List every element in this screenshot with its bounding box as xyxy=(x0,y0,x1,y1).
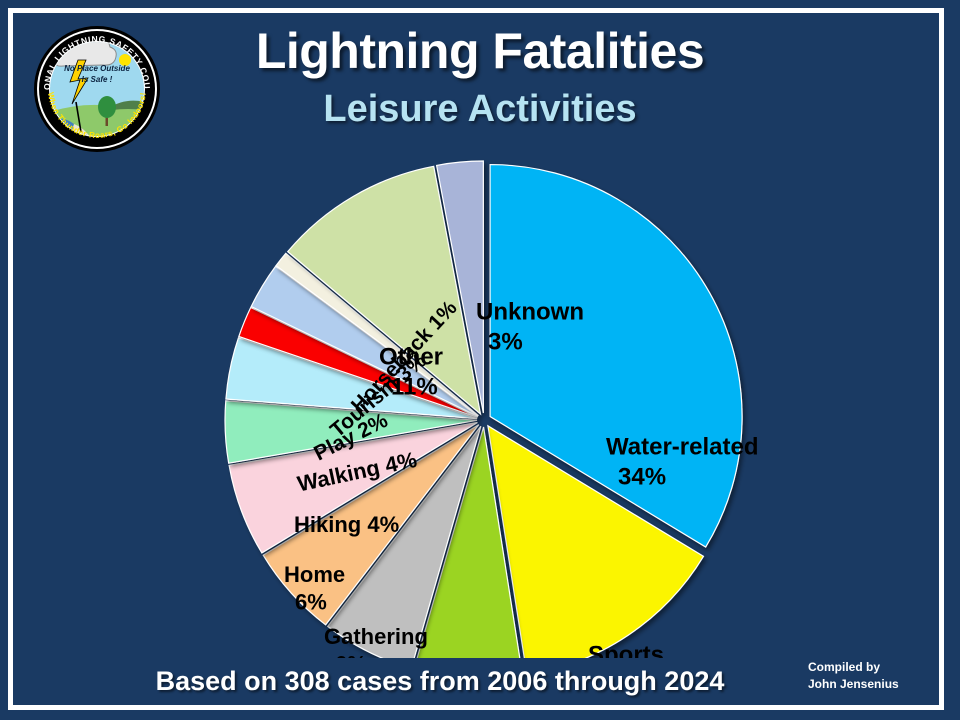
credit-line-2: John Jensenius xyxy=(808,676,938,693)
pie-label-unknown-percent: 3% xyxy=(488,328,523,355)
pie-label-water-related-name: Water-related xyxy=(606,433,758,460)
pie-label-gathering-percent: 6% xyxy=(335,651,367,658)
page-subtitle: Leisure Activities xyxy=(0,88,960,131)
credit-line-1: Compiled by xyxy=(808,659,938,676)
pie-label-home-percent: 6% xyxy=(295,589,327,614)
pie-chart: Water-related34%Sports14%Camping7%Riding… xyxy=(206,138,762,658)
pie-label-other-percent: 11% xyxy=(391,373,438,400)
pie-label-hiking: Hiking 4% xyxy=(294,512,399,537)
page-title: Lightning Fatalities xyxy=(0,22,960,80)
pie-label-unknown-name: Unknown xyxy=(476,298,584,325)
pie-label-sports: Sports14% xyxy=(588,641,664,658)
pie-label-gathering-name: Gathering xyxy=(324,624,428,649)
pie-label-water-related-percent: 34% xyxy=(618,463,666,490)
pie-label-home-name: Home xyxy=(284,562,345,587)
credit-block: Compiled by John Jensenius xyxy=(808,659,938,694)
footnote-case-count: Based on 308 cases from 2006 through 202… xyxy=(0,666,880,697)
pie-label-sports-name: Sports xyxy=(588,641,664,658)
pie-label-hiking-name: Hiking 4% xyxy=(294,512,399,537)
slide-canvas: No Place Outside Is Safe ! NATIONAL LIGH… xyxy=(0,0,960,720)
pie-label-other-name: Other xyxy=(379,343,443,370)
pie-chart-svg: Water-related34%Sports14%Camping7%Riding… xyxy=(206,138,762,658)
